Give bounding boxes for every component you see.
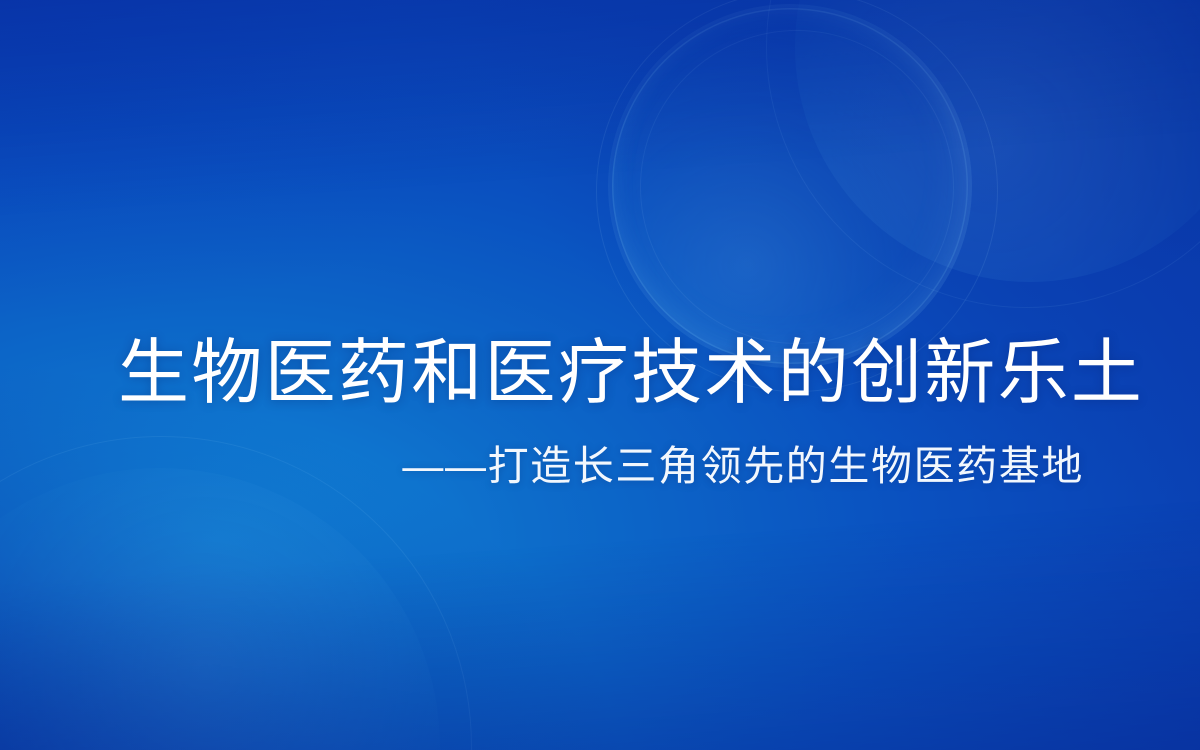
headline-block: 生物医药和医疗技术的创新乐土 ——打造长三角领先的生物医药基地 [0, 0, 1200, 750]
banner-title: 生物医药和医疗技术的创新乐土 [118, 330, 1084, 418]
banner-subtitle: ——打造长三角领先的生物医药基地 [118, 437, 1084, 495]
banner-slide: 生物医药和医疗技术的创新乐土 ——打造长三角领先的生物医药基地 [0, 0, 1200, 750]
